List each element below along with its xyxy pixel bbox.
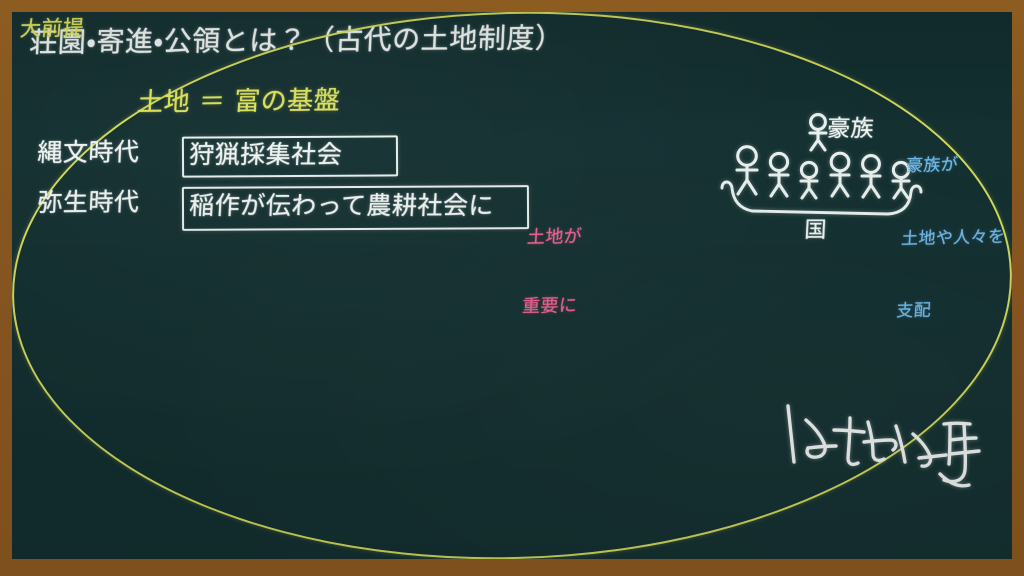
- blue-note-line-3: 支配: [896, 297, 1002, 323]
- blue-note-line-2: 土地や人々を: [900, 225, 1006, 251]
- stick-figure-3: [801, 162, 817, 198]
- diagram-leader-label: 豪族: [826, 116, 875, 143]
- era-label-yayoi: 弥生時代: [37, 187, 140, 217]
- stick-figure-5: [862, 156, 880, 197]
- chalkboard-surface: 荘園・寄進・公領とは？（古代の土地制度） 大前提 土地 ＝ 富の基盤 縄文時代 …: [12, 12, 1012, 559]
- diagram-blue-note: 豪族が 土地や人々を 支配: [892, 104, 1012, 372]
- premise-formula: 土地 ＝ 富の基盤: [136, 86, 341, 119]
- premise-badge-label: 大前提: [19, 16, 86, 42]
- handwriting-kouchi-koumin: 公地公民: [772, 390, 1002, 500]
- diagram-group-label: 国: [804, 218, 828, 244]
- stick-figure-leader: [810, 115, 826, 150]
- era-box-text-yayoi: 稲作が伝わって農耕社会に: [188, 191, 494, 221]
- annotation-line-2: 重要に: [521, 294, 578, 318]
- chalkboard-frame: 荘園・寄進・公領とは？（古代の土地制度） 大前提 土地 ＝ 富の基盤 縄文時代 …: [0, 0, 1024, 576]
- stick-figure-2: [770, 153, 788, 196]
- annotation-line-1: 土地が: [526, 225, 583, 249]
- era-label-jomon: 縄文時代: [37, 137, 140, 167]
- era-box-text-jomon: 狩猟採集社会: [188, 140, 343, 170]
- blue-note-line-1: 豪族が: [905, 152, 1011, 178]
- stick-figure-4: [831, 153, 849, 196]
- stick-figure-1: [737, 147, 757, 194]
